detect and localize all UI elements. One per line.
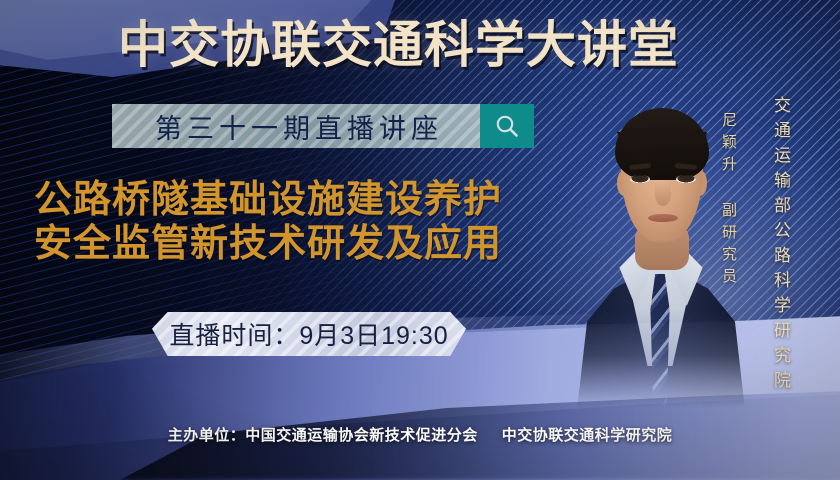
page-title: 中交协联交通科学大讲堂 xyxy=(118,14,728,76)
portrait-eye-right xyxy=(676,175,696,183)
episode-label: 第三十一期直播讲座 xyxy=(112,104,480,148)
episode-banner: 第三十一期直播讲座 xyxy=(112,104,534,148)
organizer-footer: 主办单位：中国交通运输协会新技术促进分会中交协联交通科学研究院 xyxy=(0,424,840,445)
portrait-mouth xyxy=(648,214,678,222)
broadcast-time-label: 直播时间：9月3日19:30 xyxy=(169,316,448,352)
portrait-nose xyxy=(655,182,671,206)
headline-line-1: 公路桥隧基础设施建设养护 xyxy=(34,178,574,222)
search-icon xyxy=(493,112,521,140)
search-button[interactable] xyxy=(480,104,534,148)
broadcast-time-badge: 直播时间：9月3日19:30 xyxy=(152,312,466,356)
lecture-headline: 公路桥隧基础设施建设养护 安全监管新技术研发及应用 xyxy=(34,178,574,266)
footer-prefix: 主办单位： xyxy=(168,427,246,444)
speaker-organization: 交通运输部公路科学研究院 xyxy=(768,96,793,396)
footer-org-2: 中交协联交通科学研究院 xyxy=(502,427,673,444)
speaker-name-title: 尼颖升 副研究员 xyxy=(718,112,739,290)
headline-line-2: 安全监管新技术研发及应用 xyxy=(34,222,574,266)
footer-org-1: 中国交通运输协会新技术促进分会 xyxy=(245,427,478,444)
live-broadcast-poster: 中交协联交通科学大讲堂 第三十一期直播讲座 公路桥隧基础设施建设养护 安全监管新… xyxy=(0,0,840,480)
portrait-eye-left xyxy=(630,175,650,183)
